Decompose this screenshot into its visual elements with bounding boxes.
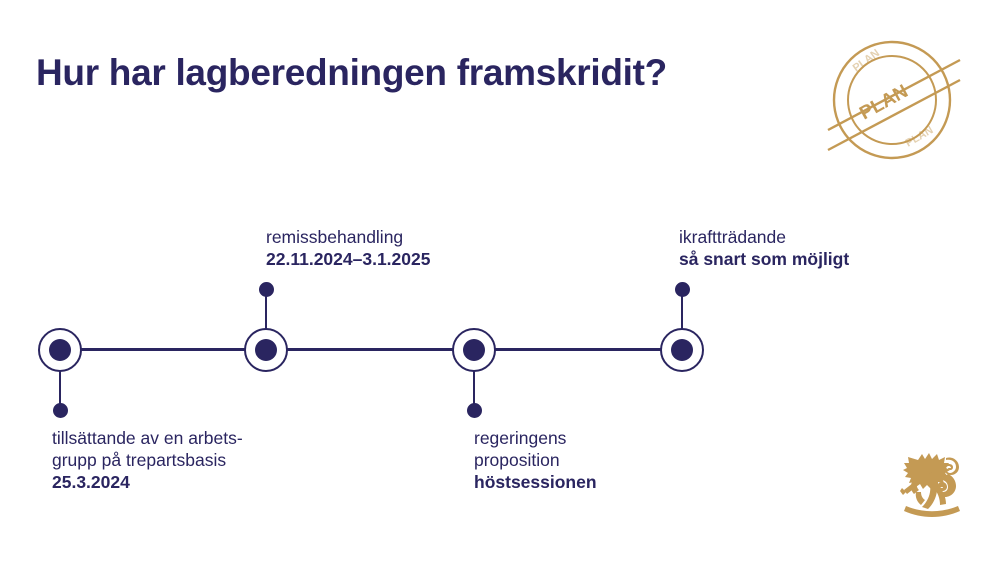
milestone-node-1[interactable]	[38, 328, 82, 372]
milestone-node-core	[671, 339, 693, 361]
finland-lion-coat-of-arms-icon	[898, 444, 966, 520]
milestone-label-1: tillsättande av en arbets- grupp på trep…	[52, 427, 243, 493]
milestone-node-2[interactable]	[244, 328, 288, 372]
milestone-node-3[interactable]	[452, 328, 496, 372]
milestone-tip-2	[259, 282, 274, 297]
timeline: tillsättande av en arbets- grupp på trep…	[0, 0, 1000, 563]
milestone-tip-3	[467, 403, 482, 418]
milestone-label-2: remissbehandling 22.11.2024–3.1.2025	[266, 226, 430, 270]
milestone-label-line: proposition	[474, 449, 597, 471]
slide-canvas: Hur har lagberedningen framskridit? PLAN…	[0, 0, 1000, 563]
milestone-stem-4	[681, 292, 683, 330]
milestone-label-4: ikraftträdande så snart som möjligt	[679, 226, 849, 270]
timeline-axis	[60, 348, 682, 351]
milestone-label-line: tillsättande av en arbets-	[52, 427, 243, 449]
milestone-label-line: grupp på trepartsbasis	[52, 449, 243, 471]
milestone-stem-2	[265, 292, 267, 330]
milestone-label-date: 22.11.2024–3.1.2025	[266, 248, 430, 270]
milestone-label-3: regeringens proposition höstsessionen	[474, 427, 597, 493]
milestone-node-core	[49, 339, 71, 361]
milestone-node-core	[463, 339, 485, 361]
milestone-node-core	[255, 339, 277, 361]
milestone-label-line: regeringens	[474, 427, 597, 449]
milestone-label-timing: så snart som möjligt	[679, 248, 849, 270]
milestone-tip-4	[675, 282, 690, 297]
milestone-tip-1	[53, 403, 68, 418]
milestone-label-line: ikraftträdande	[679, 226, 849, 248]
milestone-label-session: höstsessionen	[474, 471, 597, 493]
milestone-node-4[interactable]	[660, 328, 704, 372]
milestone-label-line: remissbehandling	[266, 226, 430, 248]
milestone-label-date: 25.3.2024	[52, 471, 243, 493]
